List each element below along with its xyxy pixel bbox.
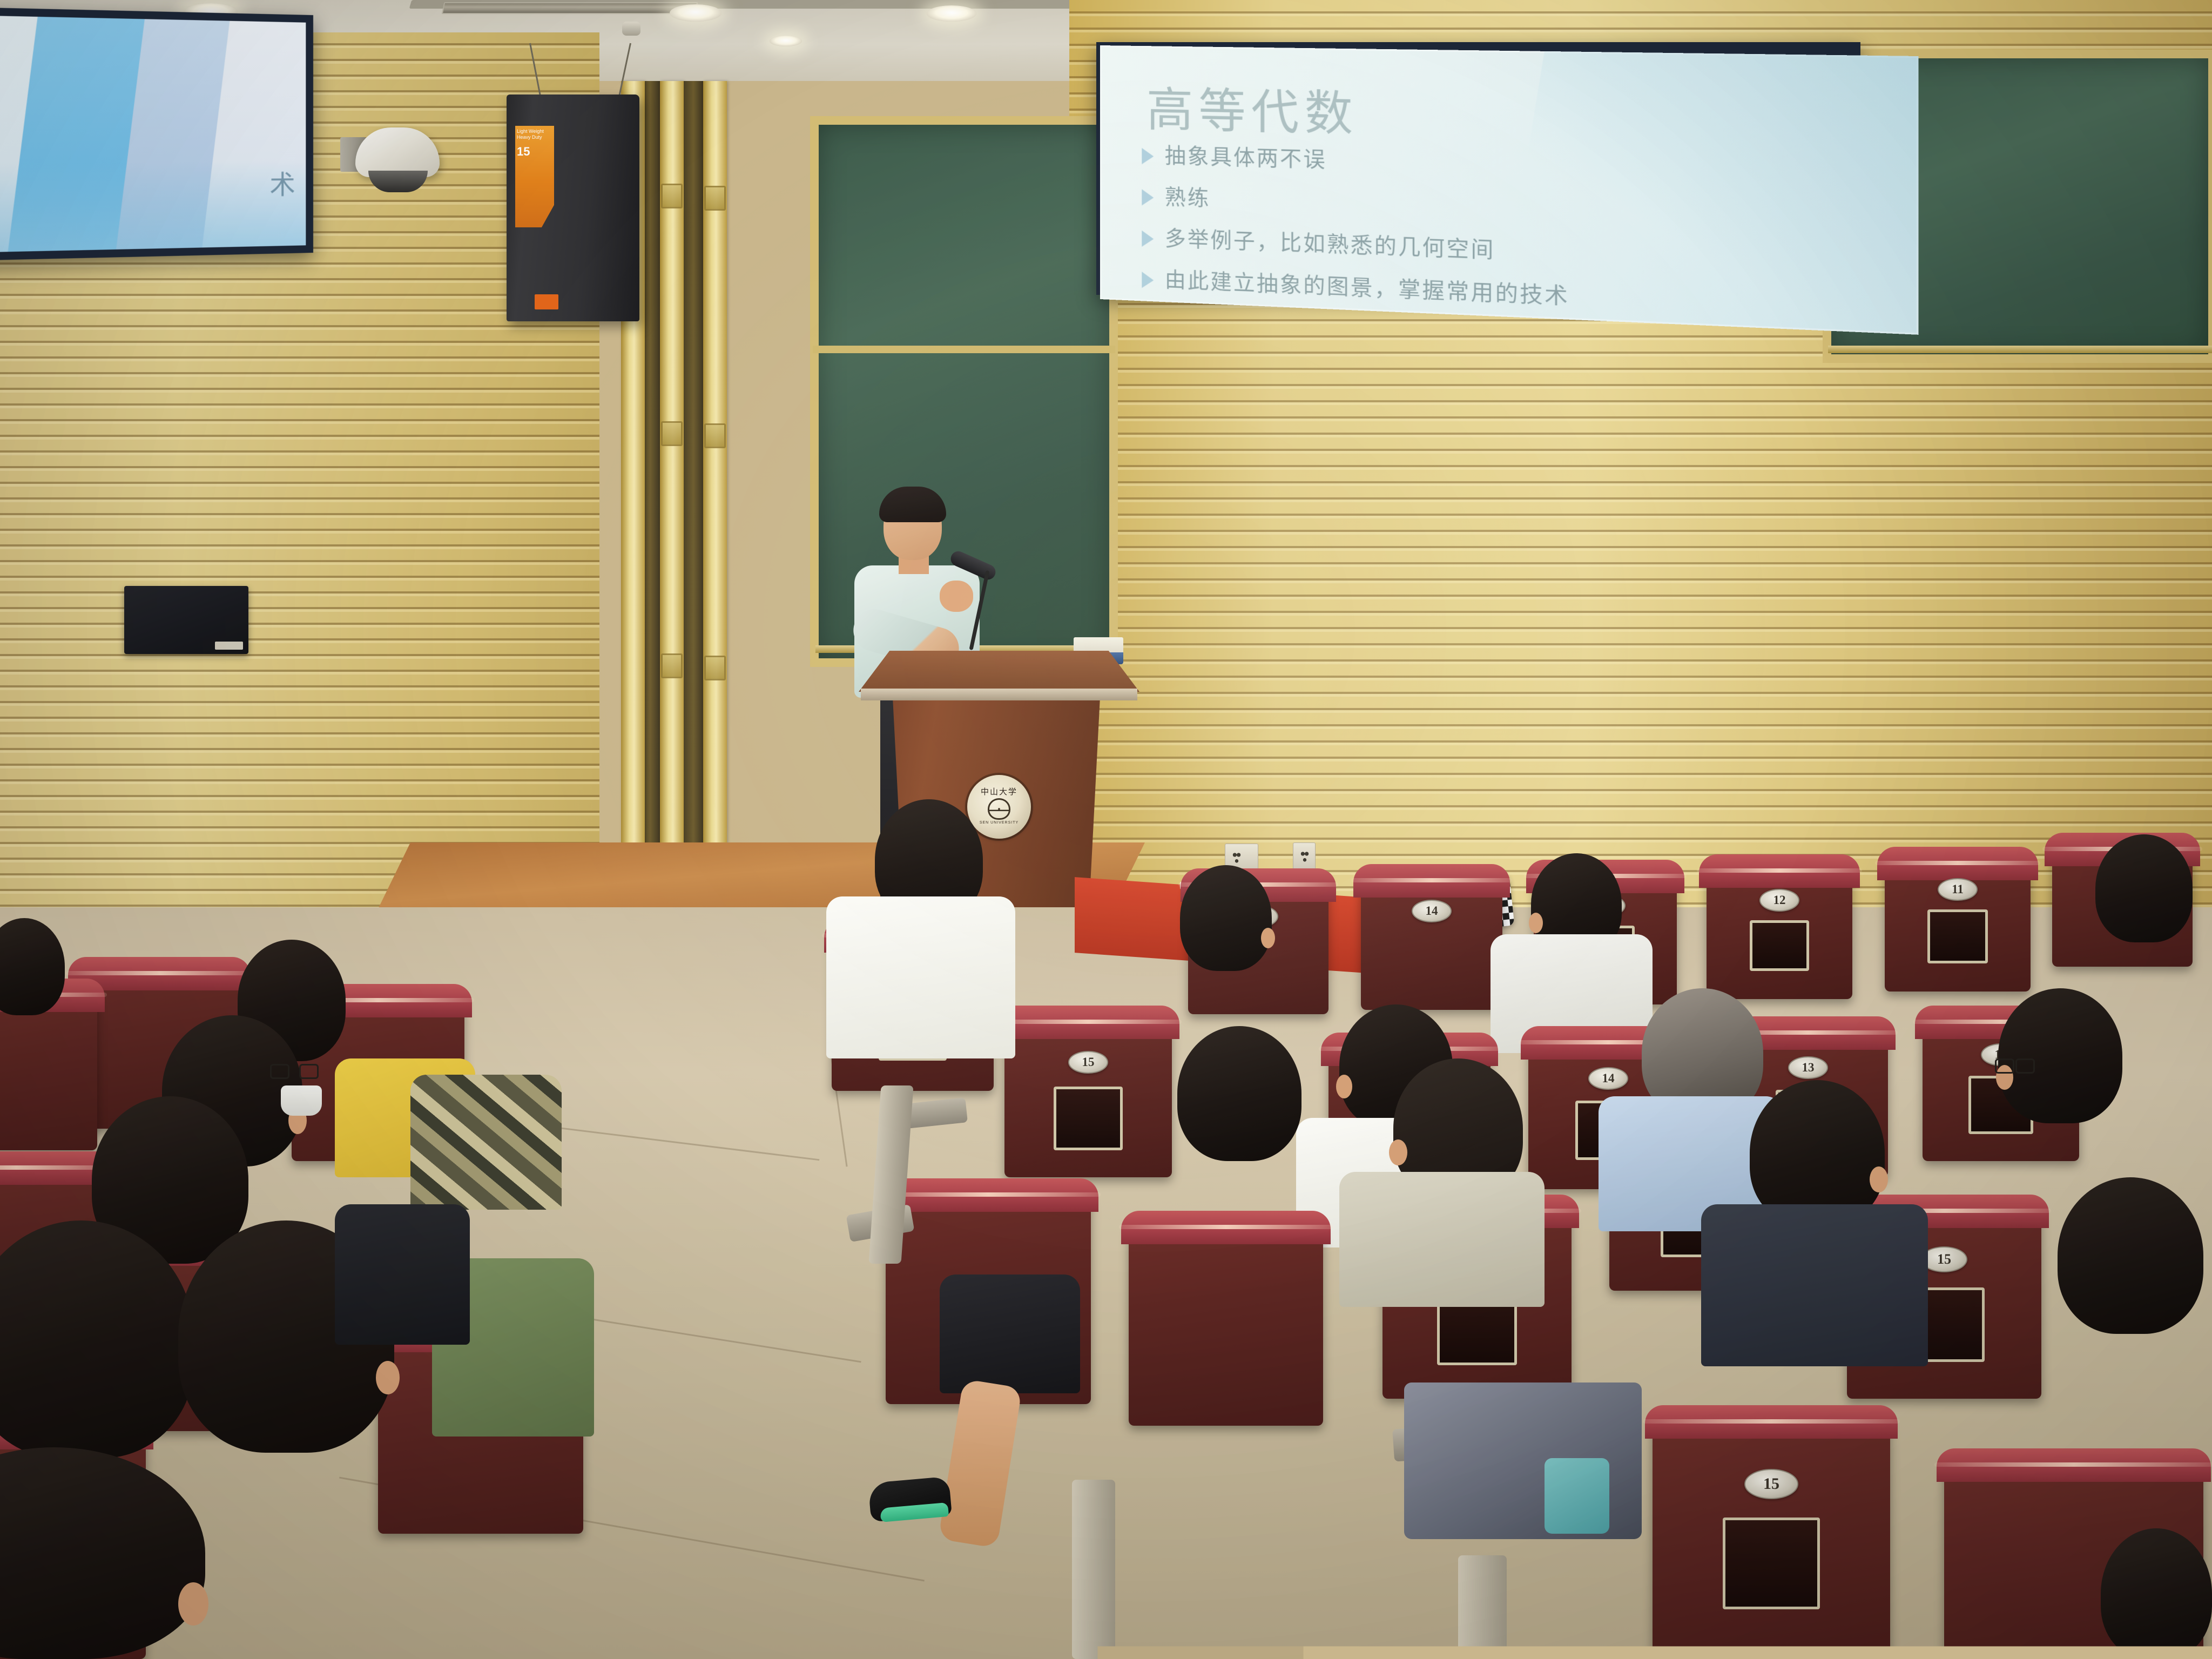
emblem-english-name: SEN UNIVERSITY (980, 821, 1019, 825)
seat-document-pocket (1054, 1087, 1123, 1150)
monitor-brand-label (215, 642, 243, 650)
bullet-text: 多举例子，比如熟悉的几何空间 (1165, 226, 1495, 264)
face-mask (281, 1085, 322, 1116)
ceiling-vent-left (442, 2, 698, 14)
lectern-top (859, 651, 1139, 692)
ear (1870, 1166, 1888, 1192)
seat-rim-highlight (1643, 1419, 1900, 1424)
seat-number-plate: 15 (1068, 1051, 1108, 1074)
door-hinge-icon (661, 421, 683, 446)
bullet-text: 由此建立抽象的图景，掌握常用的技术 (1165, 267, 1569, 309)
door-hinge-icon (704, 423, 726, 448)
emblem-chinese-name: 中山大学 (981, 786, 1017, 797)
seat-rim (1353, 864, 1510, 898)
seat-document-pocket (1750, 920, 1809, 971)
audience-head (0, 1447, 205, 1659)
seat-rim (878, 1178, 1098, 1212)
presenter-hair (879, 487, 946, 522)
audience-torso (826, 896, 1015, 1058)
board-mullion (813, 346, 1115, 353)
audience-head (1177, 1026, 1301, 1161)
audience-torso (1339, 1172, 1545, 1307)
lecture-hall-photo: 术 高等代数 抽象具体两不误 熟练 多举例子，比如熟悉的几何空间 (0, 0, 2212, 1659)
audience-head (0, 918, 65, 1015)
presenter-hand (940, 581, 973, 612)
seat-number-plate: 11 (1938, 878, 1978, 901)
left-slide-artwork (0, 12, 306, 256)
speaker-brand-badge (535, 294, 558, 309)
audience-head (1998, 988, 2122, 1123)
audience-head (2095, 834, 2193, 942)
triangle-right-icon (1142, 272, 1154, 288)
auditorium-seat[interactable]: 15 (1653, 1415, 1890, 1659)
hair (1180, 865, 1272, 971)
sticker-line-1: Light Weight (517, 129, 552, 134)
wall-power-outlet[interactable] (1293, 842, 1316, 871)
door-hinge-icon (704, 186, 726, 211)
seat-document-pocket (1927, 909, 1988, 963)
security-camera (340, 127, 441, 190)
audience-torso (335, 1204, 470, 1345)
hair (2095, 834, 2193, 942)
seat-rim (1645, 1405, 1898, 1439)
auditorium-seat[interactable]: 12 (1707, 864, 1852, 999)
speaker-rating-sticker: Light Weight Heavy Duty 15 (515, 126, 554, 227)
slide-title: 高等代数 (1147, 71, 1359, 144)
hair (2101, 1528, 2212, 1659)
camera-lens-dome (368, 171, 428, 192)
camera-housing (355, 127, 440, 177)
seat-document-pocket (1723, 1518, 1820, 1609)
triangle-right-icon (1142, 148, 1154, 165)
ceiling-loudspeaker: Light Weight Heavy Duty 15 (507, 95, 639, 321)
hair (1998, 988, 2122, 1123)
presentation-slide: 高等代数 抽象具体两不误 熟练 多举例子，比如熟悉的几何空间 由此建立抽象的图景… (1100, 45, 1918, 335)
left-slide-partial-text: 术 (269, 163, 297, 201)
seat-number-plate: 13 (1788, 1056, 1828, 1079)
door-hinge-icon (661, 653, 683, 678)
seat-rim-highlight (876, 1192, 1101, 1197)
seat-rim-highlight (1697, 868, 1862, 873)
audience-head (2101, 1528, 2212, 1659)
sticker-line-2: Heavy Duty (517, 134, 552, 140)
seat-rim-highlight (995, 1020, 1182, 1024)
seat-number-plate: 12 (1759, 889, 1799, 912)
ear (178, 1582, 208, 1626)
seat-rim-highlight (1875, 861, 2040, 865)
eyeglasses (1995, 1058, 2035, 1070)
bullet-text: 熟练 (1165, 185, 1211, 211)
emblem-gate-icon (988, 798, 1010, 820)
ceiling-downlight (770, 36, 802, 46)
triangle-right-icon (1142, 230, 1154, 247)
bullet-text: 抽象具体两不误 (1165, 144, 1327, 173)
hair (0, 1220, 194, 1458)
seat-rim-highlight (1351, 878, 1512, 882)
slide-surface: 高等代数 抽象具体两不误 熟练 多举例子，比如熟悉的几何空间 由此建立抽象的图景… (1100, 45, 1918, 335)
screen-surface-left: 术 (0, 12, 306, 256)
hair (2058, 1177, 2203, 1334)
audience-torso (1701, 1204, 1928, 1366)
smoke-detector-icon (622, 22, 640, 36)
audience-head (2058, 1177, 2203, 1334)
seat-back (1129, 1220, 1323, 1426)
chalkboard-rail (1828, 346, 2212, 353)
seat-rim (1121, 1211, 1331, 1244)
auditorium-seat[interactable]: 15 (1004, 1015, 1172, 1177)
ear (376, 1361, 400, 1394)
folding-door-gap (684, 81, 703, 875)
triangle-right-icon (1142, 189, 1154, 206)
hair (1177, 1026, 1301, 1161)
seat-rim-highlight (1119, 1225, 1333, 1229)
eyeglasses (270, 1064, 319, 1076)
hair (0, 918, 65, 1015)
seat-rim-highlight (66, 971, 253, 975)
lectern-lip (861, 689, 1137, 700)
ear (1389, 1139, 1407, 1165)
bag-strap (1545, 1458, 1609, 1534)
audience-torso (940, 1274, 1080, 1393)
seat-number-plate: 15 (1744, 1469, 1798, 1499)
ceiling-downlight (670, 4, 721, 22)
projection-screen-left: 术 (0, 3, 313, 265)
door-hinge-icon (661, 184, 683, 208)
podium-monitor[interactable] (124, 586, 248, 654)
list-item: 熟练 (1142, 184, 1897, 234)
ear (1261, 928, 1275, 948)
seat-pedestal (1458, 1555, 1507, 1659)
sticker-number: 15 (517, 144, 552, 159)
hair (0, 1447, 205, 1659)
ear (1529, 913, 1543, 933)
auditorium-seat[interactable]: 11 (1885, 857, 2031, 992)
audience-torso (410, 1075, 562, 1210)
seat-rim (1937, 1448, 2211, 1482)
seat-number-plate: 14 (1412, 900, 1452, 922)
seat-rim (1699, 854, 1860, 888)
ear (1336, 1075, 1352, 1098)
seat-number-plate: 14 (1588, 1067, 1628, 1090)
seat-rim-highlight (1934, 1462, 2212, 1467)
seat-rim (997, 1006, 1179, 1039)
seat-rim (1877, 847, 2038, 880)
audience-head (0, 1220, 194, 1458)
audience-head (1180, 865, 1272, 971)
door-hinge-icon (704, 656, 726, 680)
seat-pedestal (1072, 1480, 1115, 1659)
ceiling-downlight (927, 5, 976, 22)
auditorium-seat[interactable]: 14 (1361, 874, 1502, 1010)
auditorium-seat[interactable] (1129, 1220, 1323, 1426)
